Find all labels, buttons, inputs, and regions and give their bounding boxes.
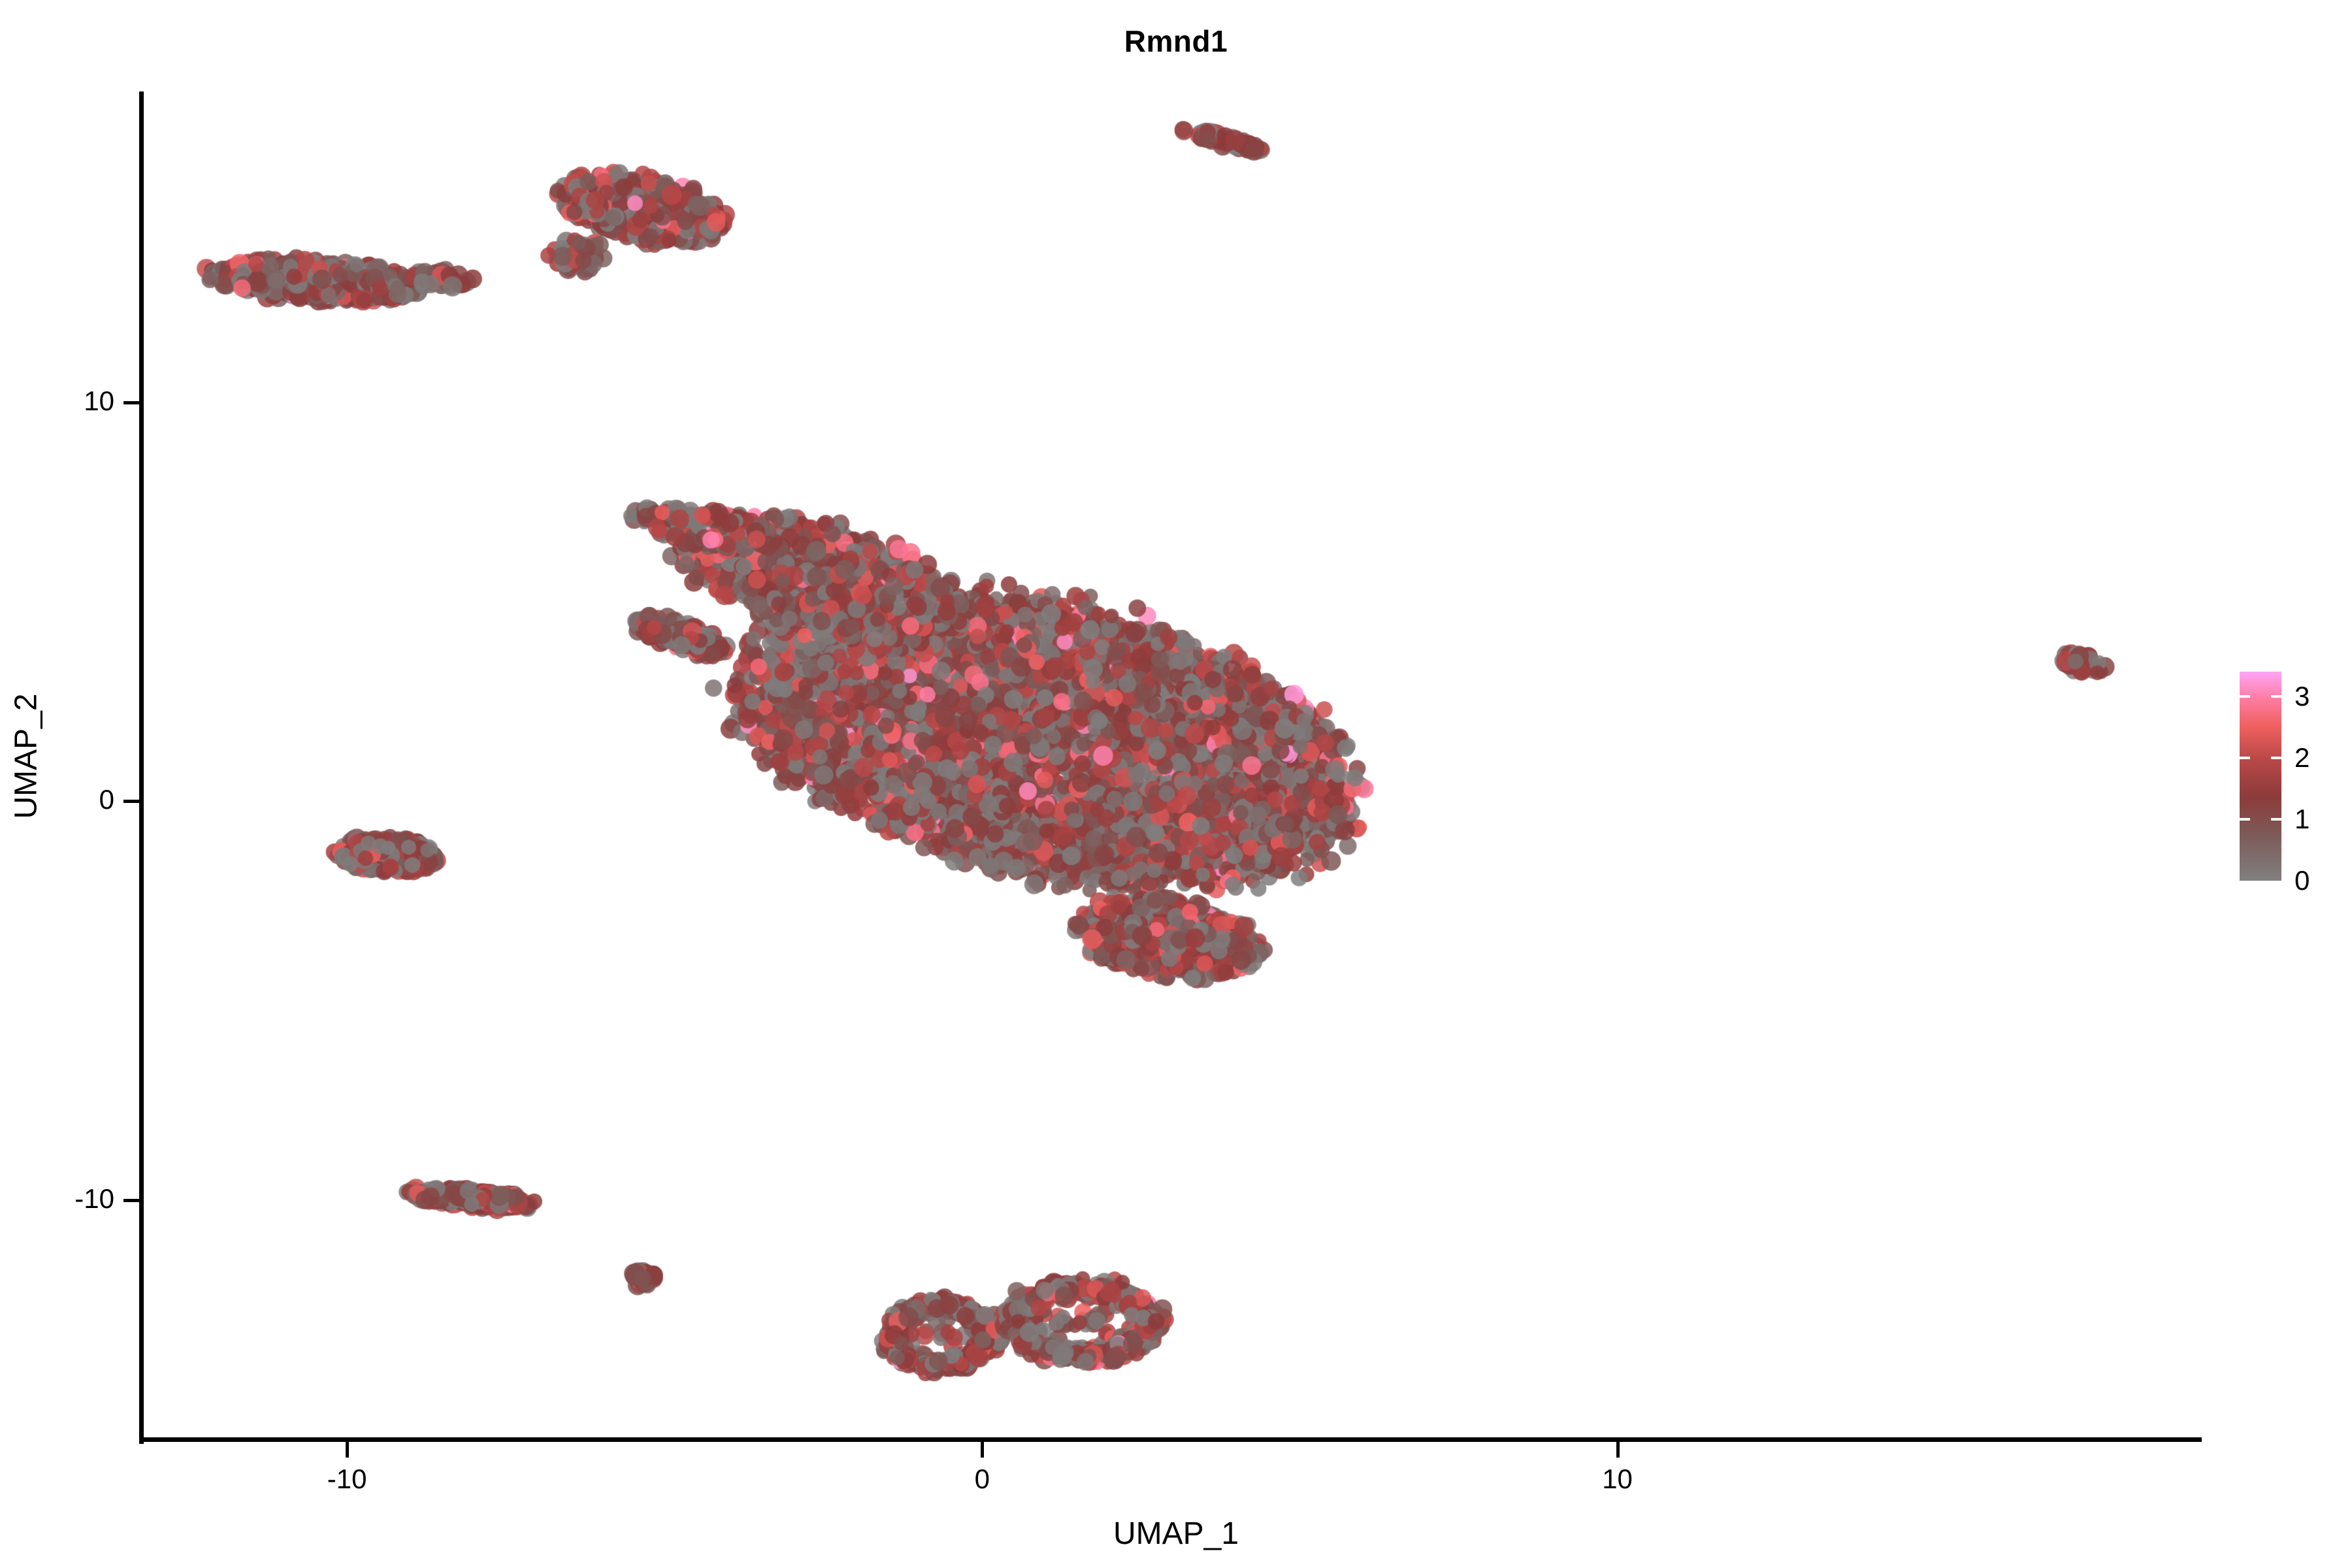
color-legend: 3210 [2240, 672, 2281, 881]
colorbar-tick-label: 1 [2295, 806, 2310, 833]
colorbar-tick [2240, 695, 2250, 698]
y-tick [123, 401, 139, 404]
colorbar-tick [2240, 818, 2250, 821]
y-tick-label: 10 [0, 385, 114, 417]
colorbar-tick-label: 2 [2295, 744, 2310, 772]
feature-plot-root: Rmnd1 -10010100-10 UMAP_1 UMAP_2 3210 [0, 0, 2352, 1568]
y-axis-line [139, 91, 144, 1444]
x-tick-label: -10 [282, 1463, 412, 1495]
colorbar-tick-label: 0 [2295, 867, 2310, 894]
x-tick [346, 1442, 349, 1458]
colorbar-gradient [2240, 672, 2281, 881]
colorbar-tick [2240, 757, 2250, 759]
x-tick-label: 0 [917, 1463, 1047, 1495]
page-title: Rmnd1 [0, 24, 2352, 59]
y-axis-label: UMAP_2 [8, 613, 44, 900]
colorbar-tick [2271, 818, 2281, 821]
scatter-panel [144, 91, 2202, 1439]
x-tick [981, 1442, 984, 1458]
x-axis-label: UMAP_1 [0, 1516, 2352, 1552]
x-tick-label: 10 [1552, 1463, 1683, 1495]
y-tick [123, 800, 139, 803]
colorbar-tick [2271, 757, 2281, 759]
scatter-canvas [144, 91, 2202, 1439]
colorbar-tick [2271, 695, 2281, 698]
y-tick-label: -10 [0, 1183, 114, 1215]
x-axis-line [144, 1437, 2202, 1442]
x-tick [1616, 1442, 1620, 1458]
colorbar-tick-label: 3 [2295, 683, 2310, 710]
y-tick [123, 1199, 139, 1202]
